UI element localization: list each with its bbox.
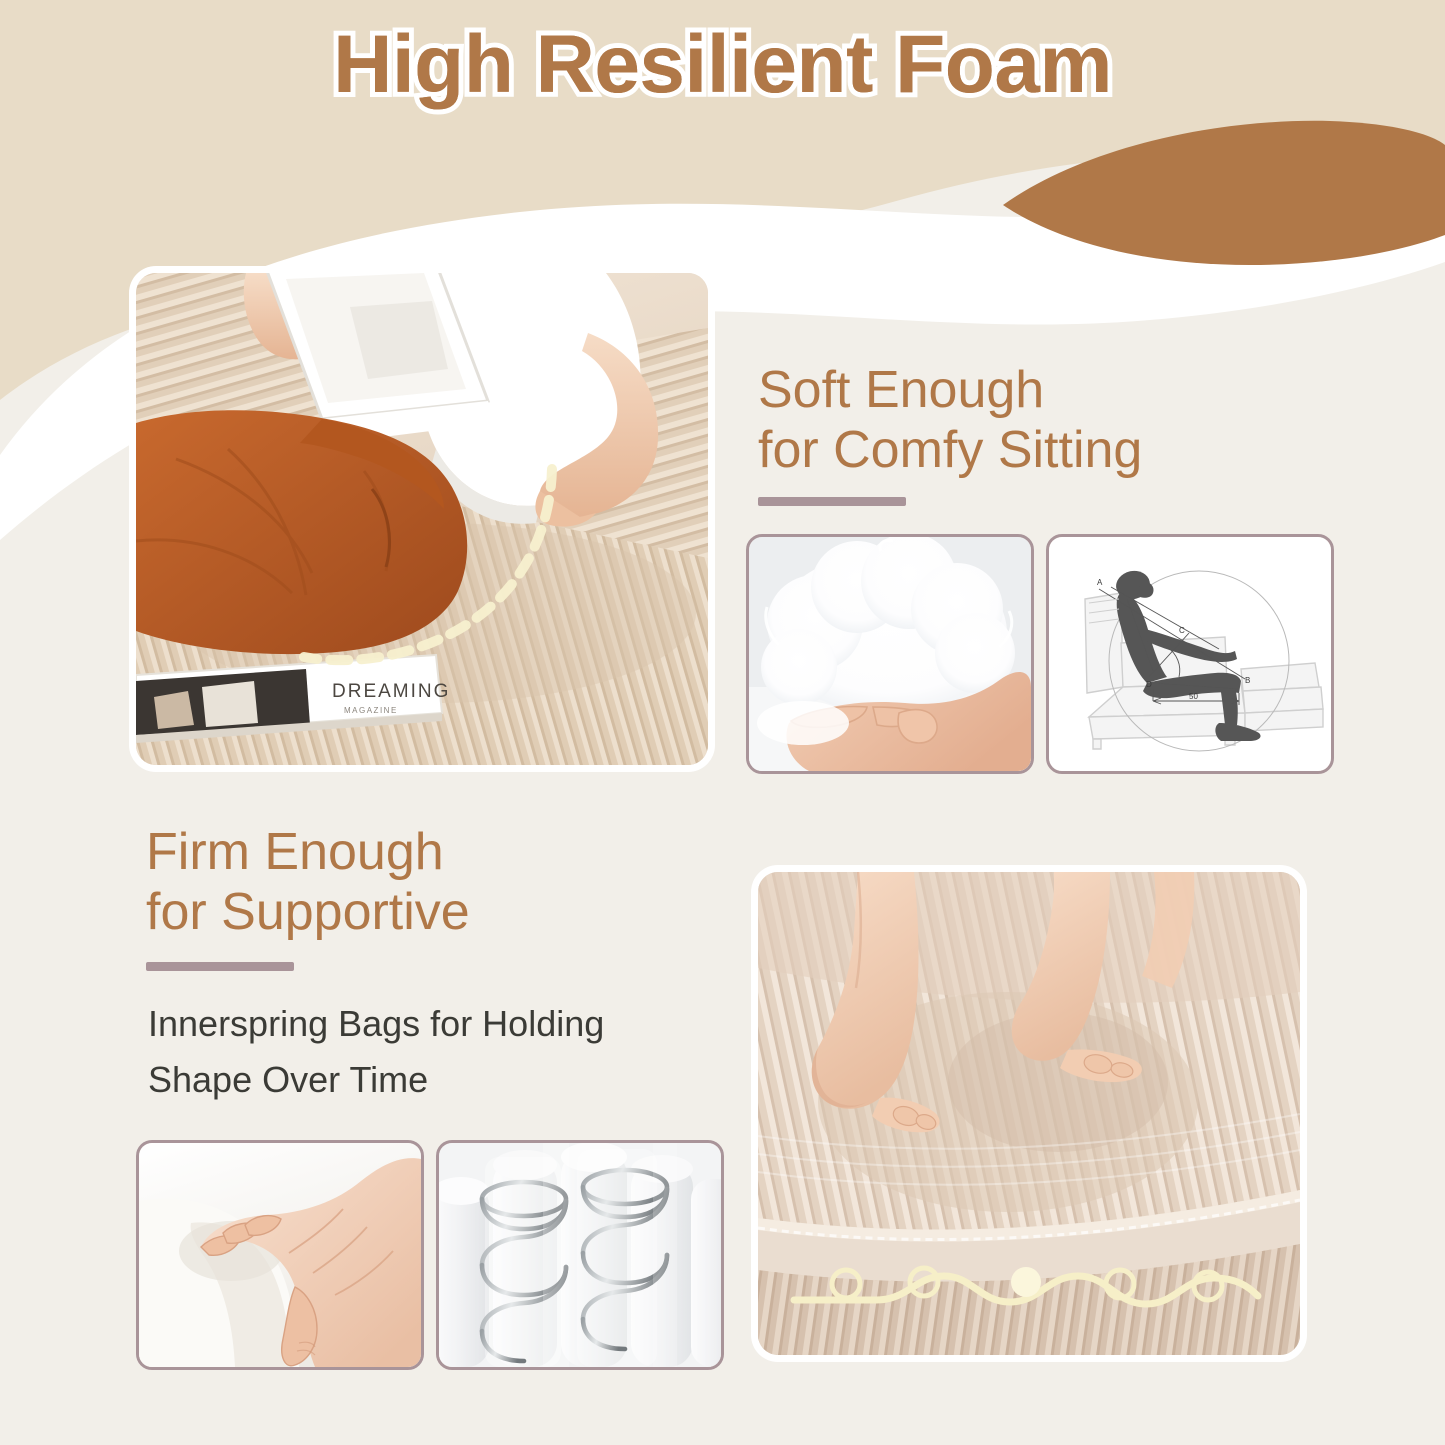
photo-person-sitting: DREAMING MAGAZINE	[136, 273, 708, 765]
photo-sitting-artwork: DREAMING MAGAZINE	[136, 273, 708, 765]
rule-soft	[758, 497, 906, 506]
infographic-canvas: High Resilient Foam High Resilient Foam	[0, 0, 1445, 1445]
ergonomics-artwork: A B C D 50	[1049, 537, 1331, 771]
thumbnail-fiberfill-in-hand	[746, 534, 1034, 774]
svg-text:A: A	[1097, 578, 1103, 587]
photo-feet-on-cushion	[758, 872, 1300, 1355]
thumbnail-pocketed-coils	[436, 1140, 724, 1370]
subtext-innerspring: Innerspring Bags for Holding Shape Over …	[148, 996, 748, 1108]
svg-text:B: B	[1245, 676, 1250, 685]
svg-text:DREAMING: DREAMING	[332, 681, 450, 702]
heading-soft-enough: Soft Enough for Comfy Sitting	[758, 360, 1378, 481]
svg-text:C: C	[1179, 626, 1185, 635]
svg-text:D: D	[1146, 680, 1152, 689]
foam-press-artwork	[139, 1143, 421, 1367]
fiberfill-artwork	[749, 537, 1031, 771]
rule-firm	[146, 962, 294, 971]
thumbnail-hand-pressing-foam	[136, 1140, 424, 1370]
photo-feet-artwork	[758, 872, 1300, 1355]
page-title-stroke: High Resilient Foam	[0, 18, 1445, 112]
heading-firm-enough: Firm Enough for Supportive	[146, 822, 706, 943]
svg-text:50: 50	[1189, 692, 1198, 701]
svg-text:MAGAZINE: MAGAZINE	[344, 706, 398, 715]
thumbnail-ergonomic-diagram: A B C D 50	[1046, 534, 1334, 774]
coils-artwork	[439, 1143, 721, 1367]
